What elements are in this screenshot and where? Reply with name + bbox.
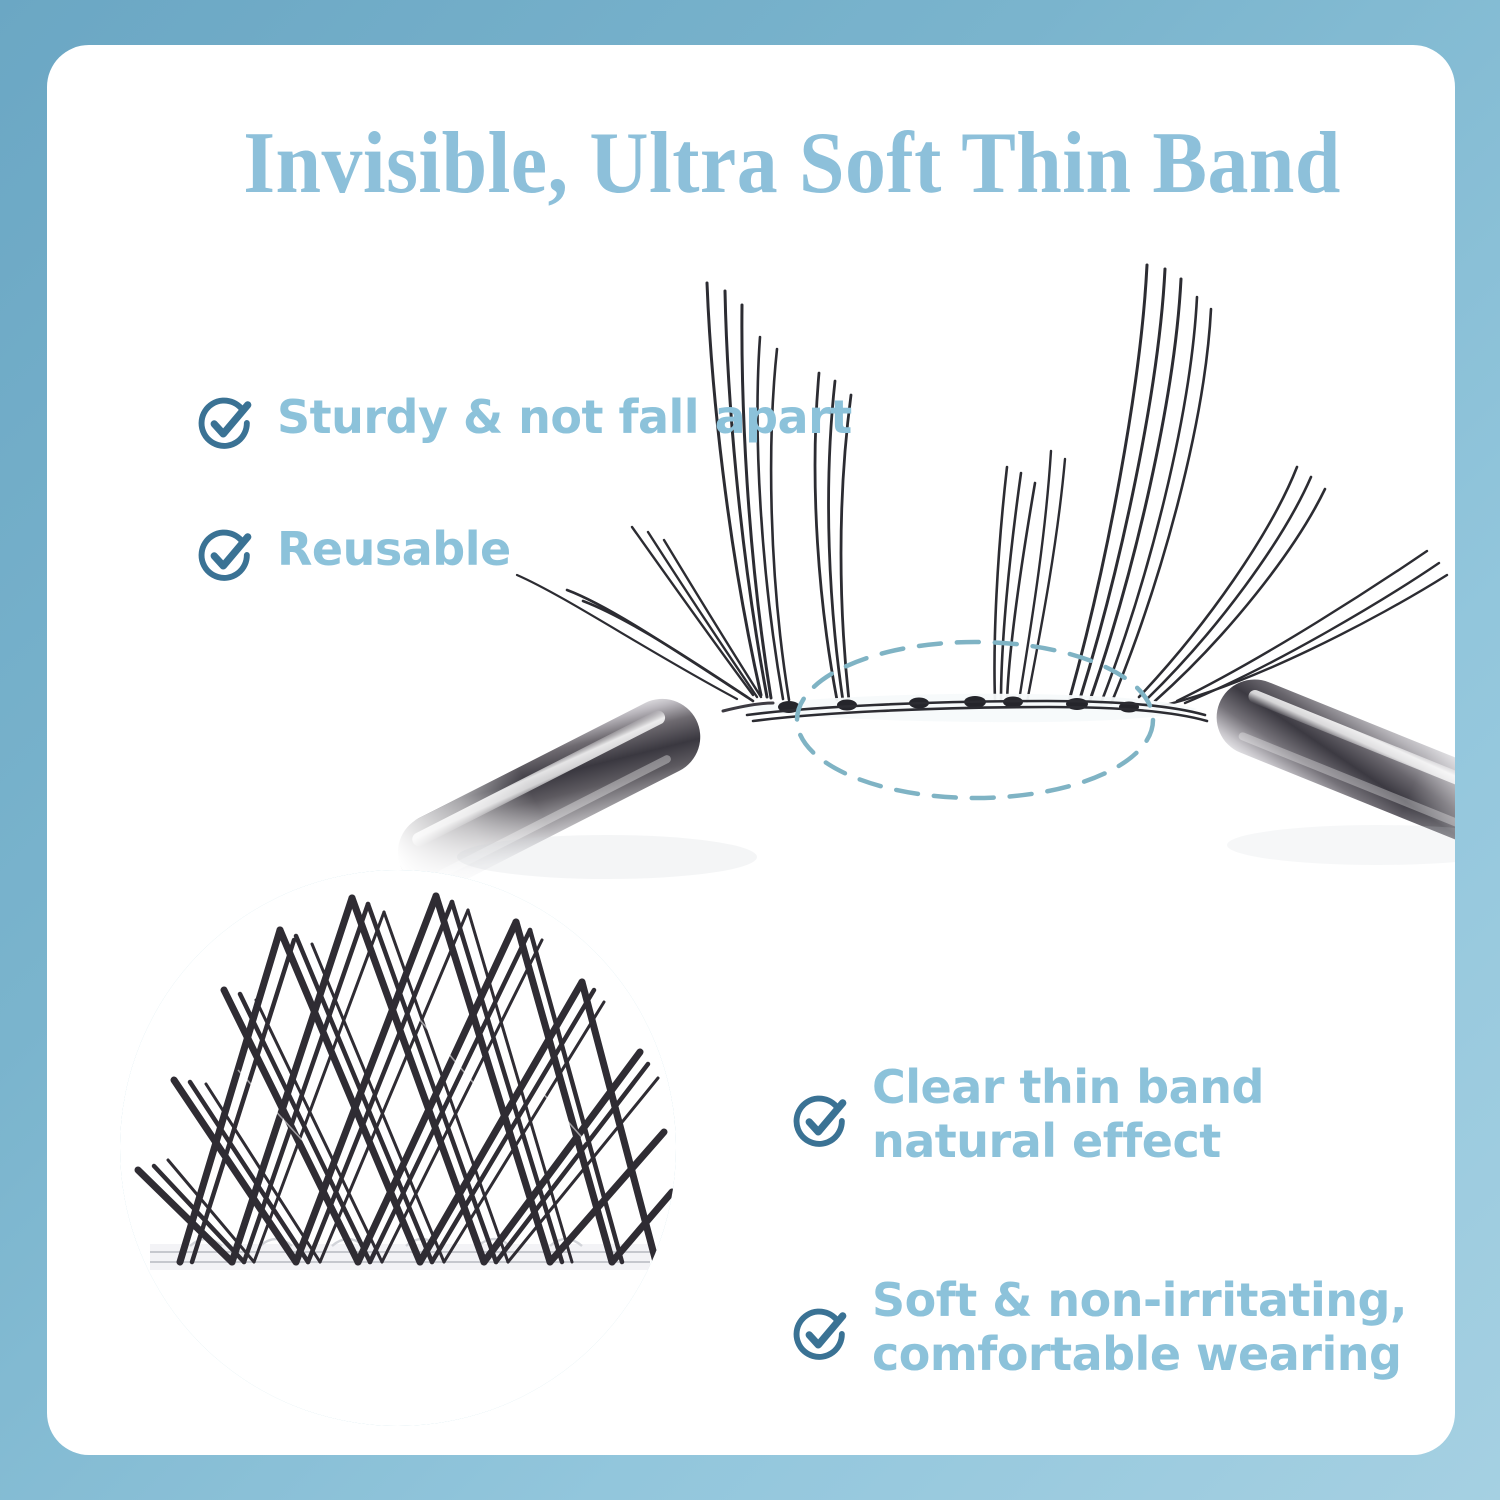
feature-item-reusable: Reusable (197, 522, 511, 584)
check-circle-icon (792, 1092, 850, 1150)
lash-fiber-clusters (517, 265, 1447, 707)
left-tweezer-tip (723, 703, 773, 711)
feature-label: Soft & non-irritating, comfortable weari… (872, 1273, 1407, 1382)
product-feature-graphic: Invisible, Ultra Soft Thin Band (0, 0, 1500, 1500)
left-tweezer (385, 686, 714, 904)
dashed-ellipse-highlight (797, 642, 1153, 798)
check-circle-icon (792, 1305, 850, 1363)
feature-label: Sturdy & not fall apart (277, 390, 852, 444)
right-tweezer (1205, 668, 1455, 873)
check-circle-icon (197, 526, 255, 584)
macro-inset-circle (120, 870, 676, 1426)
feature-item-clear-thin-band: Clear thin band natural effect (792, 1060, 1264, 1169)
feature-item-soft-non-irritating: Soft & non-irritating, comfortable weari… (792, 1273, 1407, 1382)
lash-band-strip (737, 694, 1207, 722)
feature-label: Clear thin band natural effect (872, 1060, 1264, 1169)
feature-item-sturdy: Sturdy & not fall apart (197, 390, 852, 452)
page-title: Invisible, Ultra Soft Thin Band (192, 120, 1392, 208)
white-content-card: Invisible, Ultra Soft Thin Band (47, 45, 1455, 1455)
feature-label: Reusable (277, 522, 511, 576)
check-circle-icon (197, 394, 255, 452)
